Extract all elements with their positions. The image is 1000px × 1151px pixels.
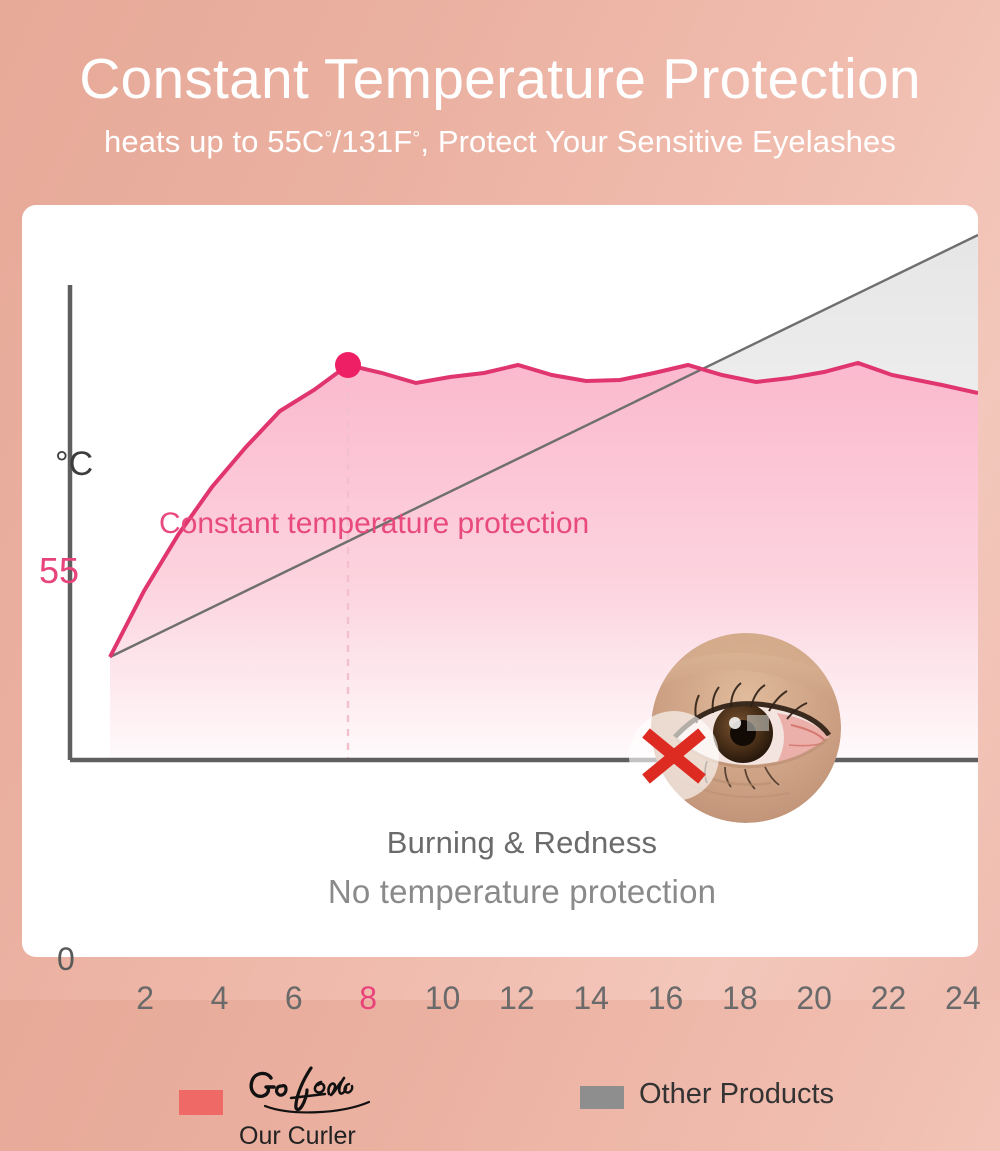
chart-card: °C 55 0 24681012141618202224 Constant te… [22, 205, 978, 957]
legend-swatch-other-products [580, 1086, 624, 1109]
x-tick-14: 14 [573, 980, 609, 1017]
annotation-no-protection: No temperature protection [22, 873, 1000, 911]
red-x-icon [629, 711, 719, 801]
legend-swatch-our-curler [179, 1090, 223, 1115]
annotation-constant-protection: Constant temperature protection [159, 507, 589, 541]
x-tick-20: 20 [796, 980, 832, 1017]
x-tick-22: 22 [871, 980, 907, 1017]
x-tick-24: 24 [945, 980, 981, 1017]
legend-label-other-products: Other Products [639, 1078, 834, 1111]
our-curler-area [110, 363, 978, 760]
x-tick-2: 2 [136, 980, 154, 1017]
peak-marker-dot [335, 352, 361, 378]
header-block: Constant Temperature Protection heats up… [0, 48, 1000, 160]
x-tick-16: 16 [648, 980, 684, 1017]
x-axis-tick-labels: 24681012141618202224 [108, 980, 1000, 1024]
x-tick-12: 12 [499, 980, 535, 1017]
annotation-burning-redness: Burning & Redness [22, 825, 1000, 861]
subtitle-suffix: , Protect Your Sensitive Eyelashes [420, 124, 896, 159]
page-title: Constant Temperature Protection [0, 48, 1000, 112]
subtitle-mid: /131F [333, 124, 413, 159]
x-tick-8: 8 [359, 980, 377, 1017]
chart-legend: Our Curler Other Products [22, 1060, 1000, 1150]
go-lash-brand-logo [241, 1064, 391, 1120]
legend-label-our-curler: Our Curler [239, 1122, 356, 1151]
page-subtitle: heats up to 55C°/131F°, Protect Your Sen… [0, 124, 1000, 160]
subtitle-prefix: heats up to 55C [104, 124, 324, 159]
x-tick-10: 10 [425, 980, 461, 1017]
degree-symbol-celsius: ° [324, 128, 332, 150]
y-axis-unit-label: °C [55, 445, 93, 484]
x-tick-4: 4 [211, 980, 229, 1017]
y-tick-0: 0 [57, 941, 75, 978]
x-tick-6: 6 [285, 980, 303, 1017]
x-tick-18: 18 [722, 980, 758, 1017]
red-x-badge [629, 711, 719, 801]
y-tick-55: 55 [39, 550, 79, 592]
